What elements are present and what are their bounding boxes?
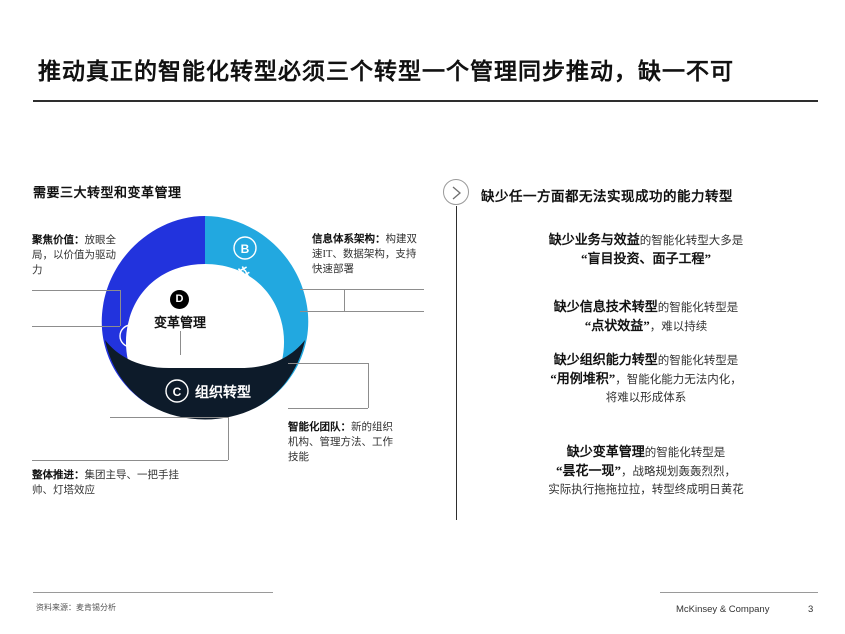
segment-c-badge-letter: C <box>173 385 182 399</box>
footer-rule-left <box>33 592 273 593</box>
connector-b-h1 <box>300 289 424 290</box>
right-block-2-tail: ，难以持续 <box>650 321 708 333</box>
annotation-information-architecture-lead: 信息体系架构： <box>312 234 386 245</box>
left-panel-heading: 需要三大转型和变革管理 <box>33 182 182 201</box>
segment-b-badge-letter: B <box>241 242 250 256</box>
right-block-2-line2: “点状效益”，难以持续 <box>476 317 816 336</box>
right-block-3-line1: 缺少组织能力转型的智能化转型是 <box>476 351 816 370</box>
connector-b-v <box>344 289 345 311</box>
annotation-information-architecture: 信息体系架构：构建双速IT、数据架构，支持快速部署 <box>312 232 424 277</box>
right-block-3-quote: “用例堆积” <box>550 371 615 386</box>
right-block-1-line2: “盲目投资、面子工程” <box>476 250 816 268</box>
connector-d-v <box>228 417 229 460</box>
annotation-intelligent-team-lead: 智能化团队： <box>288 422 351 433</box>
connector-a-v <box>120 290 121 326</box>
right-block-2-rest: 的智能化转型是 <box>658 302 739 314</box>
segment-c-shape[interactable] <box>105 340 305 420</box>
right-panel-heading: 缺少任一方面都无法实现成功的能力转型 <box>481 185 733 205</box>
connector-d-h1 <box>110 417 228 418</box>
right-block-missing-org-capability: 缺少组织能力转型的智能化转型是 “用例堆积”，智能化能力无法内化， 将难以形成体… <box>476 351 816 407</box>
connector-c-v <box>368 363 369 408</box>
annotation-overall-advance-lead: 整体推进： <box>32 470 85 481</box>
right-block-4-rest: 的智能化转型是 <box>645 447 726 459</box>
right-block-4-line1: 缺少变革管理的智能化转型是 <box>476 443 816 462</box>
footer-brand: McKinsey & Company <box>676 604 769 615</box>
right-block-3-line3: 将难以形成体系 <box>476 389 816 407</box>
footer-rule-right <box>660 592 818 593</box>
right-block-3-rest: 的智能化转型是 <box>658 355 739 367</box>
chevron-right-icon[interactable] <box>443 179 469 205</box>
right-block-3-tail: ，智能化能力无法内化， <box>615 374 742 386</box>
right-block-missing-business-benefit: 缺少业务与效益的智能化转型大多是 “盲目投资、面子工程” <box>476 231 816 268</box>
slide-root: 推动真正的智能化转型必须三个转型一个管理同步推动，缺一不可 需要三大转型和变革管… <box>0 0 845 634</box>
center-badge: D <box>170 290 189 309</box>
connector-a-h1 <box>32 290 120 291</box>
annotation-overall-advance: 整体推进：集团主导、一把手挂帅、灯塔效应 <box>32 468 184 498</box>
connector-d-h2 <box>32 460 228 461</box>
right-block-1-line1: 缺少业务与效益的智能化转型大多是 <box>476 231 816 250</box>
segment-a-badge-letter: A <box>127 330 136 344</box>
segment-c-label: 组织转型 <box>195 384 251 401</box>
right-block-4-tail: ，战略规划轰轰烈烈， <box>621 466 736 478</box>
right-block-2-lead: 缺少信息技术转型 <box>554 299 658 314</box>
right-block-4-lead: 缺少变革管理 <box>567 444 645 459</box>
annotation-focus-value: 聚焦价值：放眼全局，以价值为驱动力 <box>32 233 120 278</box>
connector-center <box>180 331 181 355</box>
title-divider <box>33 100 818 102</box>
footer-source: 资料来源：麦肯锡分析 <box>36 602 116 613</box>
page-title: 推动真正的智能化转型必须三个转型一个管理同步推动，缺一不可 <box>38 52 818 86</box>
right-block-4-line2: “昙花一现”，战略规划轰轰烈烈， <box>476 462 816 481</box>
right-block-1-rest: 的智能化转型大多是 <box>640 235 744 247</box>
connector-b-h2 <box>300 311 424 312</box>
right-block-1-lead: 缺少业务与效益 <box>549 232 640 247</box>
chevron-right-glyph <box>451 186 463 200</box>
right-block-4-quote: “昙花一现” <box>556 463 621 478</box>
annotation-focus-value-lead: 聚焦价值： <box>32 235 85 246</box>
right-block-missing-change-management: 缺少变革管理的智能化转型是 “昙花一现”，战略规划轰轰烈烈， 实际执行拖拖拉拉，… <box>476 443 816 499</box>
connector-c-h1 <box>288 363 368 364</box>
connector-c-h2 <box>288 408 368 409</box>
right-block-4-line3: 实际执行拖拖拉拉，转型终成明日黄花 <box>476 481 816 499</box>
right-block-3-line2: “用例堆积”，智能化能力无法内化， <box>476 370 816 389</box>
center-label: 变革管理 <box>138 312 222 331</box>
right-block-missing-it-transformation: 缺少信息技术转型的智能化转型是 “点状效益”，难以持续 <box>476 298 816 336</box>
right-block-2-line1: 缺少信息技术转型的智能化转型是 <box>476 298 816 317</box>
annotation-intelligent-team: 智能化团队：新的组织机构、管理方法、工作技能 <box>288 420 396 465</box>
footer-page-number: 3 <box>808 604 813 615</box>
panel-divider <box>456 206 457 520</box>
connector-a-h2 <box>32 326 120 327</box>
right-block-3-lead: 缺少组织能力转型 <box>554 352 658 367</box>
right-block-2-quote: “点状效益” <box>585 318 650 333</box>
